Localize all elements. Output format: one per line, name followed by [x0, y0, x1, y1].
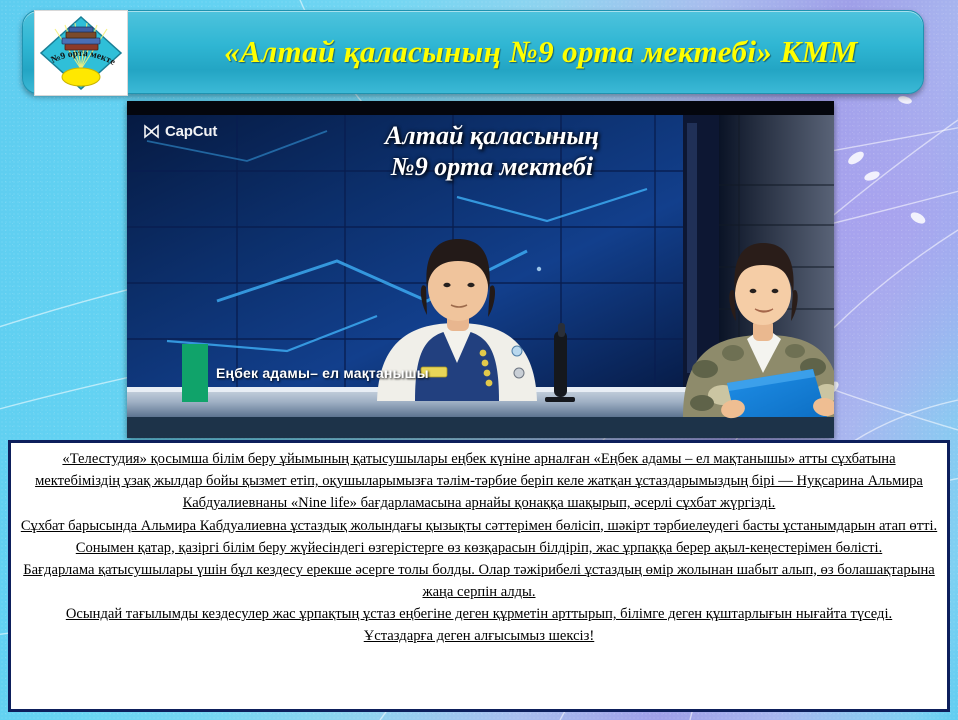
lower-third-text: Еңбек адамы– ел мақтанышы — [208, 344, 429, 402]
video-title: Алтай қаласының №9 орта мектебі — [302, 121, 682, 182]
header-banner: «Алтай қаласының №9 орта мектебі» КММ — [22, 10, 924, 94]
capcut-label: CapCut — [165, 123, 217, 140]
school-emblem-icon: №9 орта мектеп — [35, 11, 127, 95]
lower-third-accent — [182, 344, 208, 402]
video-thumbnail[interactable]: CapCut Алтай қаласының №9 орта мектебі Е… — [127, 101, 834, 438]
paragraph-5: Ұстаздарға деген алғысымыз шексіз! — [19, 625, 939, 647]
paragraph-3: Бағдарлама қатысушылары үшін бұл кездесу… — [19, 559, 939, 603]
page-title: «Алтай қаласының №9 орта мектебі» КММ — [163, 11, 919, 93]
video-title-line1: Алтай қаласының — [302, 121, 682, 152]
capcut-logo-icon — [144, 124, 161, 139]
video-title-line2: №9 орта мектебі — [302, 152, 682, 183]
capcut-watermark: CapCut — [144, 123, 217, 140]
lower-third-banner: Еңбек адамы– ел мақтанышы — [182, 344, 429, 402]
school-logo: №9 орта мектеп — [34, 10, 128, 96]
paragraph-1: «Телестудия» қосымша білім беру ұйымының… — [19, 448, 939, 515]
slide-canvas: «Алтай қаласының №9 орта мектебі» КММ — [0, 0, 958, 720]
article-text-panel: «Телестудия» қосымша білім беру ұйымының… — [8, 440, 950, 712]
paragraph-4: Осындай тағылымды кездесулер жас ұрпақты… — [19, 603, 939, 625]
paragraph-2: Сұхбат барысында Альмира Кабдуалиевна ұс… — [19, 515, 939, 559]
